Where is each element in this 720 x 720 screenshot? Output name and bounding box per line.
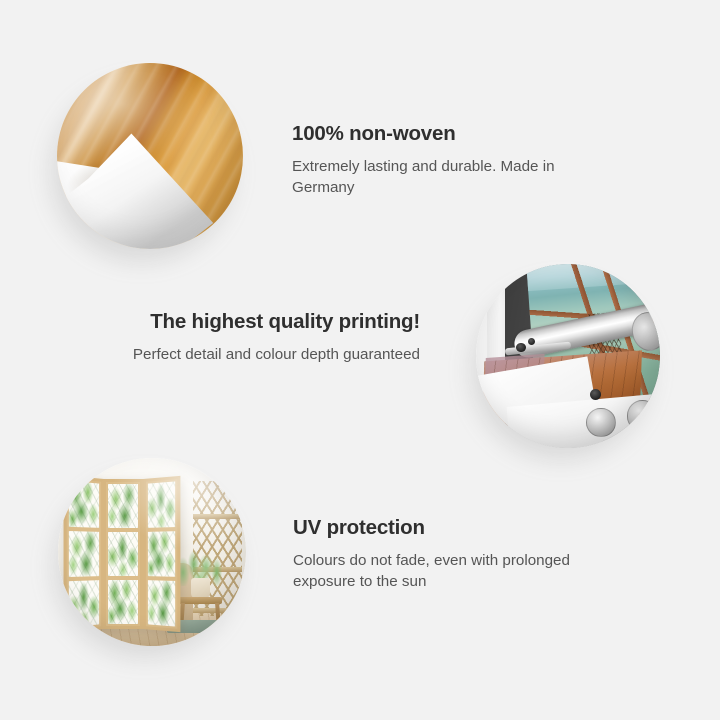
circle-vignette bbox=[476, 264, 660, 448]
uv-protection-body: Colours do not fade, even with prolonged… bbox=[293, 550, 583, 593]
promo-feature-panel: 100% non-woven Extremely lasting and dur… bbox=[0, 0, 720, 720]
printing-press-image bbox=[476, 264, 660, 448]
uv-protection-text-block: UV protection Colours do not fade, even … bbox=[293, 516, 583, 593]
non-woven-body: Extremely lasting and durable. Made in G… bbox=[292, 156, 602, 199]
circle-vignette bbox=[57, 63, 243, 249]
non-woven-heading: 100% non-woven bbox=[292, 122, 602, 147]
uv-protection-heading: UV protection bbox=[293, 516, 583, 541]
quality-printing-body: Perfect detail and colour depth guarante… bbox=[120, 344, 420, 366]
quality-printing-text-block: The highest quality printing! Perfect de… bbox=[120, 310, 420, 365]
tropical-room-divider-image bbox=[58, 458, 246, 646]
peeling-wallpaper-corner-image bbox=[57, 63, 243, 249]
circle-vignette bbox=[58, 458, 246, 646]
quality-printing-heading: The highest quality printing! bbox=[120, 310, 420, 335]
non-woven-text-block: 100% non-woven Extremely lasting and dur… bbox=[292, 122, 602, 199]
